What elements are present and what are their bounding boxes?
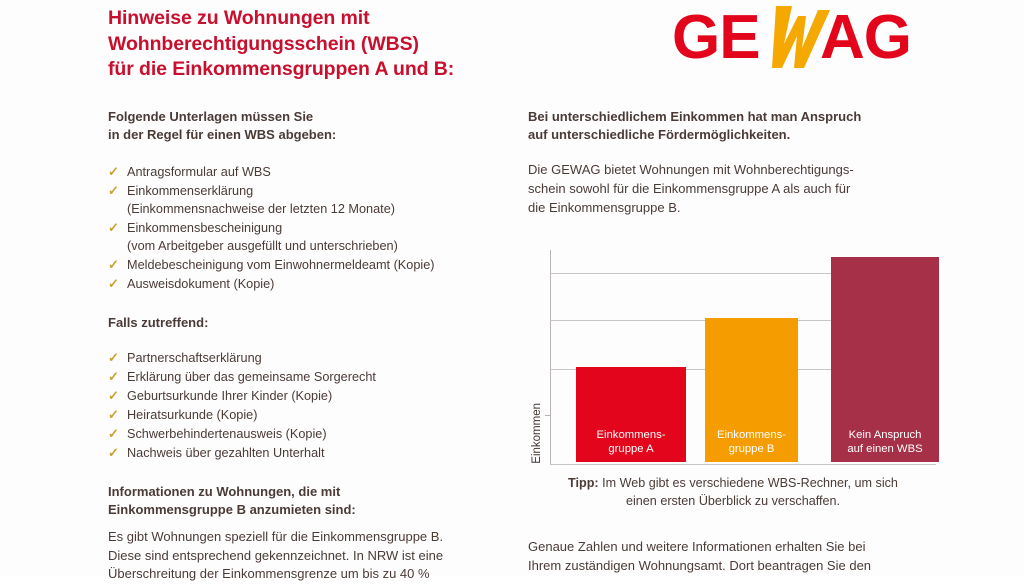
list-item-label: Heiratsurkunde (Kopie) bbox=[127, 408, 257, 422]
list-item: ✓ Einkommenserklärung (Einkommensnachwei… bbox=[108, 182, 528, 218]
chart-gridline bbox=[550, 464, 936, 465]
svg-text:AG: AG bbox=[820, 4, 911, 70]
list-item-sublabel: (vom Arbeitgeber ausgefüllt und untersch… bbox=[127, 237, 528, 255]
check-icon: ✓ bbox=[108, 387, 119, 405]
check-icon: ✓ bbox=[108, 425, 119, 443]
group-b-info-heading-line-2: Einkommensgruppe B anzumieten sind: bbox=[108, 501, 528, 519]
check-icon: ✓ bbox=[108, 163, 119, 181]
chart-y-axis-label-text: Einkommen bbox=[531, 381, 543, 464]
income-intro-heading: Bei unterschiedlichem Einkommen hat man … bbox=[528, 108, 938, 145]
page-title: Hinweise zu Wohnungen mit Wohnberechtigu… bbox=[108, 6, 578, 83]
list-item-label: Erklärung über das gemeinsame Sorgerecht bbox=[127, 370, 376, 384]
chart-plot-area: Einkommens- gruppe A Einkommens- gruppe … bbox=[550, 242, 938, 470]
list-item-label: Schwerbehindertenausweis (Kopie) bbox=[127, 427, 327, 441]
chart-bar-label-group-b: Einkommens- gruppe B bbox=[705, 428, 798, 456]
group-b-info-line-3: Überschreitung der Einkommensgrenze um b… bbox=[108, 565, 528, 584]
group-b-info-line-1: Es gibt Wohnungen speziell für die Einko… bbox=[108, 528, 528, 547]
list-item-label: Antragsformular auf WBS bbox=[127, 165, 271, 179]
tipp-line-2: einen ersten Überblick zu verschaffen. bbox=[528, 492, 938, 510]
chart-axis-tick bbox=[545, 415, 550, 416]
check-icon: ✓ bbox=[108, 444, 119, 462]
list-item: ✓ Nachweis über gezahlten Unterhalt bbox=[108, 444, 528, 462]
right-column: Bei unterschiedlichem Einkommen hat man … bbox=[528, 108, 938, 217]
chart-bar-label-line-1: Einkommens- bbox=[576, 428, 686, 442]
check-icon: ✓ bbox=[108, 349, 119, 367]
chart-bar-no-claim: Kein Anspruch auf einen WBS bbox=[831, 257, 939, 462]
income-intro-body: Die GEWAG bietet Wohnungen mit Wohnberec… bbox=[528, 161, 938, 218]
list-item-label: Nachweis über gezahlten Unterhalt bbox=[127, 446, 324, 460]
tipp-line-1: Tipp: Im Web gibt es verschiedene WBS-Re… bbox=[528, 474, 938, 492]
chart-y-axis-label: Einkommen bbox=[526, 242, 548, 464]
check-icon: ✓ bbox=[108, 256, 119, 274]
documents-heading-line-2: in der Regel für einen WBS abgeben: bbox=[108, 126, 528, 144]
svg-text:GE: GE bbox=[672, 4, 760, 70]
documents-heading-line-1: Folgende Unterlagen müssen Sie bbox=[108, 108, 528, 126]
tipp-line-1-rest: Im Web gibt es verschiedene WBS-Rechner,… bbox=[599, 476, 898, 490]
conditional-heading: Falls zutreffend: bbox=[108, 314, 528, 332]
income-intro-heading-line-1: Bei unterschiedlichem Einkommen hat man … bbox=[528, 108, 938, 126]
chart-bar-label-line-2: auf einen WBS bbox=[831, 442, 939, 456]
chart-bar-group-a: Einkommens- gruppe A bbox=[576, 367, 686, 462]
check-icon: ✓ bbox=[108, 406, 119, 424]
list-item-sublabel: (Einkommensnachweise der letzten 12 Mona… bbox=[127, 200, 528, 218]
check-icon: ✓ bbox=[108, 219, 119, 237]
list-item: ✓ Erklärung über das gemeinsame Sorgerec… bbox=[108, 368, 528, 386]
list-item-label: Einkommensbescheinigung bbox=[127, 221, 282, 235]
income-intro-line-1: Die GEWAG bietet Wohnungen mit Wohnberec… bbox=[528, 161, 938, 180]
conditional-documents-list: ✓ Partnerschaftserklärung ✓ Erklärung üb… bbox=[108, 349, 528, 462]
income-intro-line-3: die Einkommensgruppe B. bbox=[528, 199, 938, 218]
list-item-label: Partnerschaftserklärung bbox=[127, 351, 262, 365]
headline-line-1: Hinweise zu Wohnungen mit bbox=[108, 6, 578, 32]
group-b-info-heading: Informationen zu Wohnungen, die mit Eink… bbox=[108, 483, 528, 520]
left-column: Folgende Unterlagen müssen Sie in der Re… bbox=[108, 108, 528, 584]
authority-info-text: Genaue Zahlen und weitere Informationen … bbox=[528, 538, 943, 576]
chart-bar-group-b: Einkommens- gruppe B bbox=[705, 318, 798, 462]
gewag-logo-icon: GE AG bbox=[672, 4, 934, 70]
group-b-info-heading-line-1: Informationen zu Wohnungen, die mit bbox=[108, 483, 528, 501]
required-documents-list: ✓ Antragsformular auf WBS ✓ Einkommenser… bbox=[108, 163, 528, 293]
chart-bar-label-line-2: gruppe B bbox=[705, 442, 798, 456]
check-icon: ✓ bbox=[108, 275, 119, 293]
income-intro-line-2: schein sowohl für die Einkommensgruppe A… bbox=[528, 180, 938, 199]
chart-y-axis-line bbox=[550, 250, 551, 464]
list-item: ✓ Partnerschaftserklärung bbox=[108, 349, 528, 367]
check-icon: ✓ bbox=[108, 182, 119, 200]
chart-bar-label-group-a: Einkommens- gruppe A bbox=[576, 428, 686, 456]
income-intro-heading-line-2: auf unterschiedliche Fördermöglichkeiten… bbox=[528, 126, 938, 144]
tipp-note: Tipp: Im Web gibt es verschiedene WBS-Re… bbox=[528, 474, 938, 511]
list-item-label: Geburtsurkunde Ihrer Kinder (Kopie) bbox=[127, 389, 332, 403]
infographic-page: Hinweise zu Wohnungen mit Wohnberechtigu… bbox=[0, 0, 1024, 576]
documents-heading: Folgende Unterlagen müssen Sie in der Re… bbox=[108, 108, 528, 145]
headline-line-2: Wohnberechtigungsschein (WBS) bbox=[108, 32, 578, 58]
authority-info-line-2: Ihrem zuständigen Wohnungsamt. Dort bean… bbox=[528, 557, 943, 576]
list-item: ✓ Meldebescheinigung vom Einwohnermeldea… bbox=[108, 256, 528, 274]
chart-bar-label-line-1: Kein Anspruch bbox=[831, 428, 939, 442]
check-icon: ✓ bbox=[108, 368, 119, 386]
conditional-heading-line-1: Falls zutreffend: bbox=[108, 314, 528, 332]
chart-bar-label-no-claim: Kein Anspruch auf einen WBS bbox=[831, 428, 939, 456]
list-item: ✓ Heiratsurkunde (Kopie) bbox=[108, 406, 528, 424]
authority-info-line-1: Genaue Zahlen und weitere Informationen … bbox=[528, 538, 943, 557]
headline-line-3: für die Einkommensgruppen A und B: bbox=[108, 57, 578, 83]
list-item: ✓ Ausweisdokument (Kopie) bbox=[108, 275, 528, 293]
list-item-label: Einkommenserklärung bbox=[127, 184, 253, 198]
list-item-label: Ausweisdokument (Kopie) bbox=[127, 277, 274, 291]
chart-bar-label-line-2: gruppe A bbox=[576, 442, 686, 456]
list-item: ✓ Einkommensbescheinigung (vom Arbeitgeb… bbox=[108, 219, 528, 255]
tipp-label: Tipp: bbox=[568, 476, 599, 490]
chart-bar-label-line-1: Einkommens- bbox=[705, 428, 798, 442]
group-b-info-line-2: Diese sind entsprechend gekennzeichnet. … bbox=[108, 547, 528, 566]
gewag-logo: GE AG bbox=[672, 4, 934, 70]
income-bar-chart: Einkommen Einkommens- gruppe A Einkommen… bbox=[528, 242, 938, 470]
list-item-label: Meldebescheinigung vom Einwohnermeldeamt… bbox=[127, 258, 435, 272]
list-item: ✓ Schwerbehindertenausweis (Kopie) bbox=[108, 425, 528, 443]
list-item: ✓ Geburtsurkunde Ihrer Kinder (Kopie) bbox=[108, 387, 528, 405]
list-item: ✓ Antragsformular auf WBS bbox=[108, 163, 528, 181]
